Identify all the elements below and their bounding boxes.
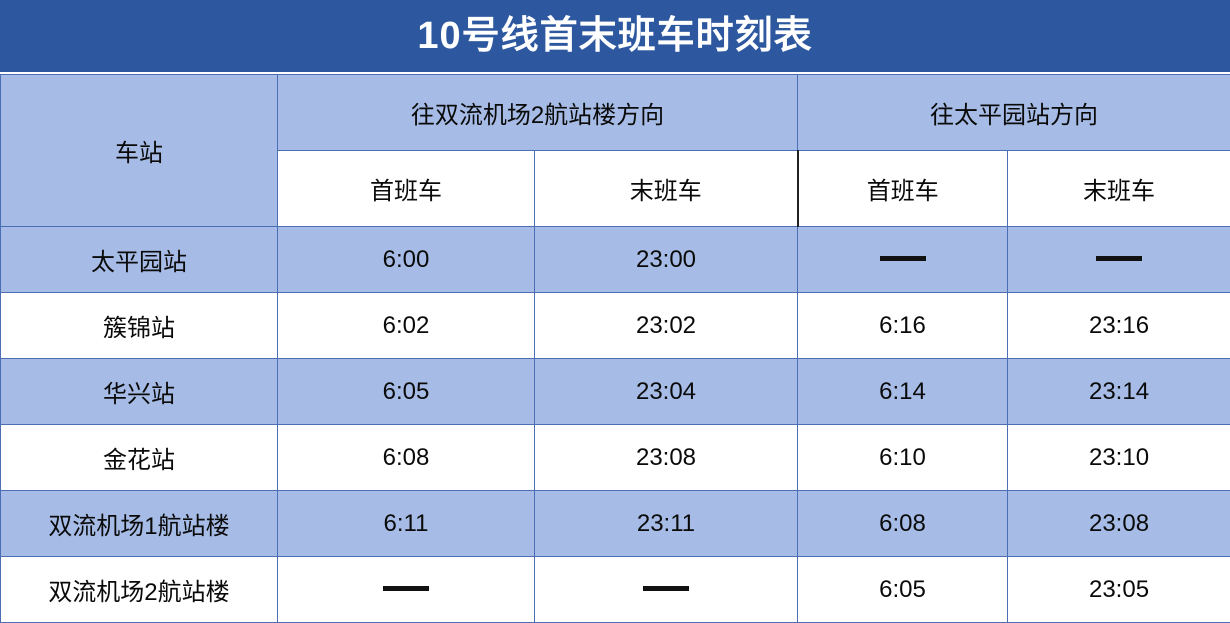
last-train-airport [535, 557, 798, 623]
first-train-airport [278, 557, 535, 623]
last-train-taipingyuan [1008, 227, 1230, 293]
last-train-taipingyuan: 23:08 [1008, 491, 1230, 557]
table-row: 簇锦站 6:02 23:02 6:16 23:16 [1, 293, 1230, 359]
no-service-dash-icon [880, 256, 926, 261]
header-station: 车站 [1, 75, 278, 227]
last-train-airport: 23:00 [535, 227, 798, 293]
first-train-taipingyuan: 6:16 [798, 293, 1008, 359]
first-train-taipingyuan: 6:14 [798, 359, 1008, 425]
header-sub-taipingyuan-last: 末班车 [1008, 151, 1230, 227]
station-name: 金花站 [1, 425, 278, 491]
first-train-taipingyuan [798, 227, 1008, 293]
first-train-taipingyuan: 6:10 [798, 425, 1008, 491]
last-train-taipingyuan: 23:14 [1008, 359, 1230, 425]
last-train-airport: 23:02 [535, 293, 798, 359]
last-train-taipingyuan: 23:16 [1008, 293, 1230, 359]
header-sub-airport-first: 首班车 [278, 151, 535, 227]
last-train-taipingyuan: 23:05 [1008, 557, 1230, 623]
station-name: 双流机场2航站楼 [1, 557, 278, 623]
station-name: 簇锦站 [1, 293, 278, 359]
station-name: 华兴站 [1, 359, 278, 425]
first-train-airport: 6:02 [278, 293, 535, 359]
last-train-airport: 23:04 [535, 359, 798, 425]
last-train-airport: 23:08 [535, 425, 798, 491]
no-service-dash-icon [643, 586, 689, 591]
header-row-direction: 车站 往双流机场2航站楼方向 往太平园站方向 [1, 75, 1230, 151]
table-row: 双流机场2航站楼 6:05 23:05 [1, 557, 1230, 623]
station-name: 双流机场1航站楼 [1, 491, 278, 557]
table-row: 太平园站 6:00 23:00 [1, 227, 1230, 293]
first-train-taipingyuan: 6:05 [798, 557, 1008, 623]
no-service-dash-icon [383, 586, 429, 591]
no-service-dash-icon [1096, 256, 1142, 261]
first-train-airport: 6:11 [278, 491, 535, 557]
header-direction-taipingyuan: 往太平园站方向 [798, 75, 1230, 151]
last-train-taipingyuan: 23:10 [1008, 425, 1230, 491]
table-row: 华兴站 6:05 23:04 6:14 23:14 [1, 359, 1230, 425]
header-direction-airport: 往双流机场2航站楼方向 [278, 75, 798, 151]
last-train-airport: 23:11 [535, 491, 798, 557]
page-title: 10号线首末班车时刻表 [417, 17, 812, 55]
first-train-airport: 6:08 [278, 425, 535, 491]
timetable-sheet: 10号线首末班车时刻表 车站 往双流机场2航站楼方向 往太平园站方向 首班车 末… [0, 0, 1230, 620]
table-row: 双流机场1航站楼 6:11 23:11 6:08 23:08 [1, 491, 1230, 557]
first-train-taipingyuan: 6:08 [798, 491, 1008, 557]
timetable: 车站 往双流机场2航站楼方向 往太平园站方向 首班车 末班车 首班车 末班车 太… [0, 74, 1230, 623]
station-name: 太平园站 [1, 227, 278, 293]
header-sub-airport-last: 末班车 [535, 151, 798, 227]
first-train-airport: 6:05 [278, 359, 535, 425]
header-sub-taipingyuan-first: 首班车 [798, 151, 1008, 227]
title-bar: 10号线首末班车时刻表 [0, 0, 1230, 72]
first-train-airport: 6:00 [278, 227, 535, 293]
table-row: 金花站 6:08 23:08 6:10 23:10 [1, 425, 1230, 491]
